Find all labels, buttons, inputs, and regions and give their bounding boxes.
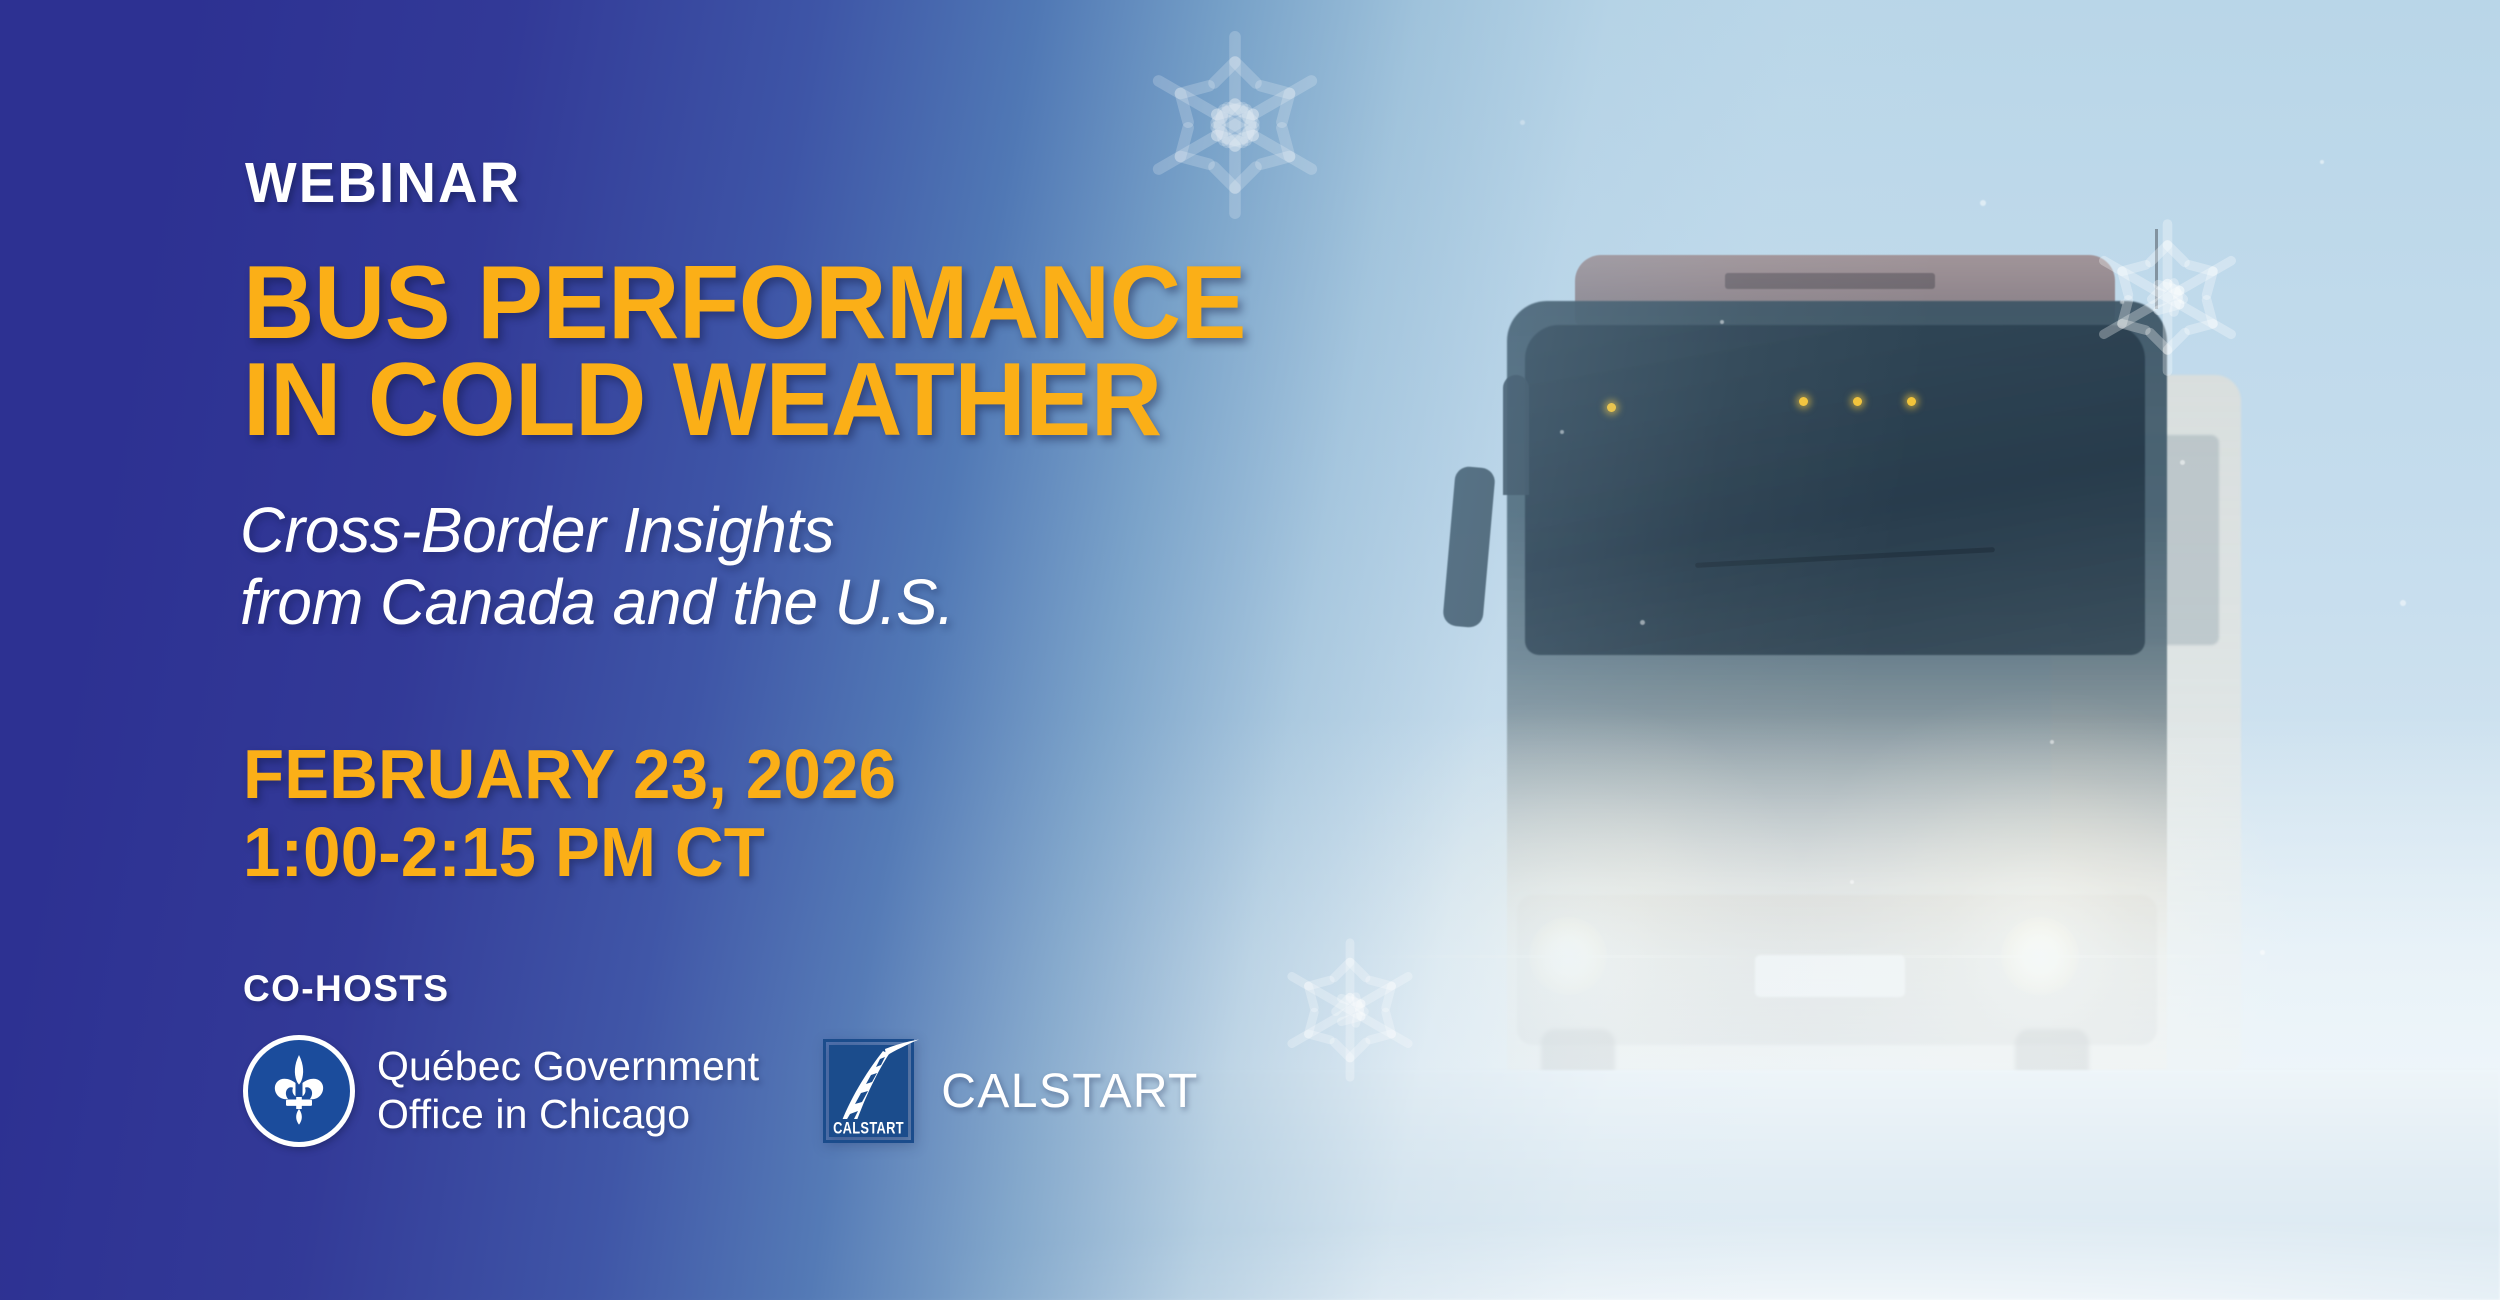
headline-line-2: IN COLD WEATHER xyxy=(243,352,1478,449)
eyebrow-label: WEBINAR xyxy=(245,155,521,212)
quebec-name-line-1: Québec Government xyxy=(377,1043,759,1089)
banner-content: WEBINAR BUS PERFORMANCE IN COLD WEATHER … xyxy=(0,0,1200,1300)
subtitle-line-2: from Canada and the U.S. xyxy=(240,567,1453,639)
quebec-logo-text: Québec Government Office in Chicago xyxy=(377,1043,759,1138)
cohost-logos: Québec Government Office in Chicago xyxy=(243,1035,1199,1147)
event-datetime: FEBRUARY 23, 2026 1:00-2:15 PM CT xyxy=(243,735,896,892)
calstart-road-icon: CALSTART xyxy=(823,1035,921,1147)
logo-quebec-government-office: Québec Government Office in Chicago xyxy=(243,1035,759,1147)
webinar-promo-banner: WEBINAR BUS PERFORMANCE IN COLD WEATHER … xyxy=(0,0,2500,1300)
event-date: FEBRUARY 23, 2026 xyxy=(243,735,896,813)
page-title: BUS PERFORMANCE IN COLD WEATHER xyxy=(243,255,1478,448)
fleur-de-lis-icon xyxy=(268,1053,330,1130)
quebec-name-line-2: Office in Chicago xyxy=(377,1091,759,1139)
quebec-badge xyxy=(243,1035,355,1147)
calstart-wordmark: CALSTART xyxy=(941,1064,1198,1119)
logo-calstart: CALSTART CALSTART xyxy=(823,1035,1198,1147)
cohosts-label: CO-HOSTS xyxy=(243,968,449,1010)
subtitle-line-1: Cross-Border Insights xyxy=(240,494,834,566)
event-time: 1:00-2:15 PM CT xyxy=(243,813,896,891)
page-subtitle: Cross-Border Insights from Canada and th… xyxy=(240,495,1453,638)
svg-text:CALSTART: CALSTART xyxy=(833,1120,904,1138)
